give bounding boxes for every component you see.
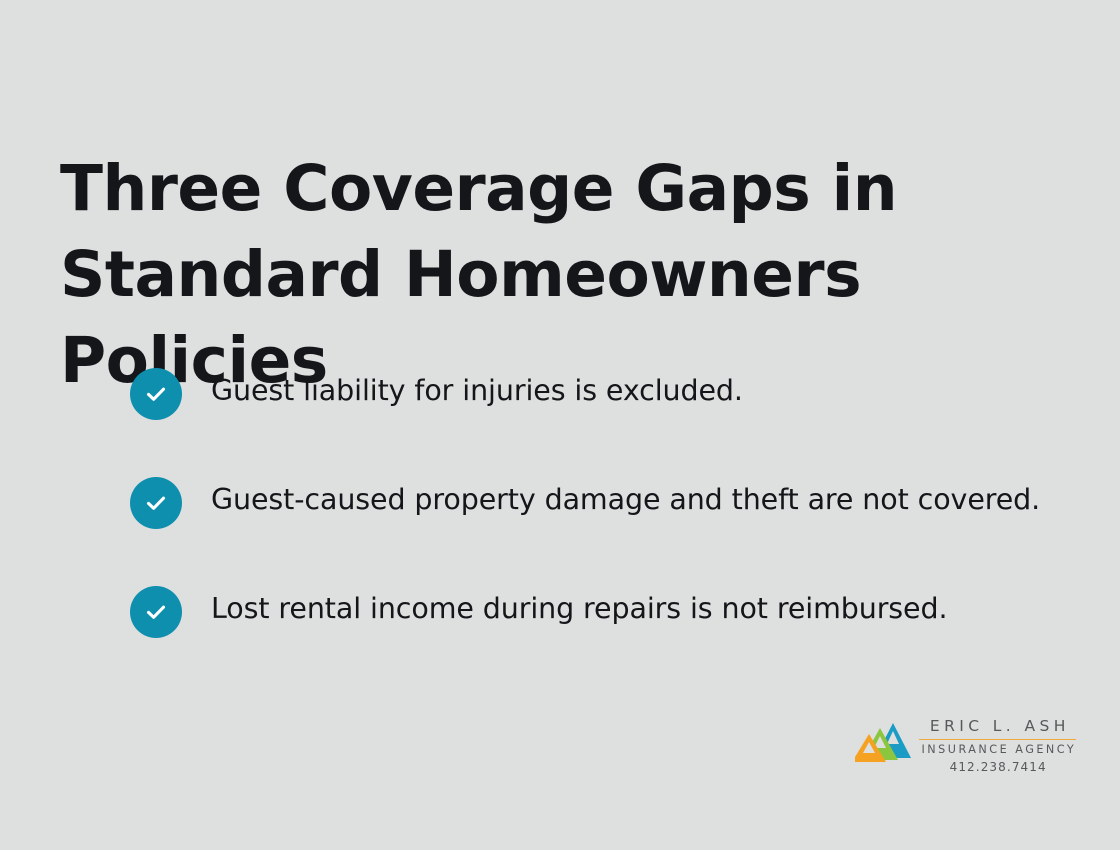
brand-divider [919, 739, 1076, 741]
check-icon [130, 368, 182, 420]
check-icon [130, 586, 182, 638]
brand-logo-text: ERIC L. ASH INSURANCE AGENCY 412.238.741… [919, 718, 1076, 777]
list-item-label: Lost rental income during repairs is not… [211, 583, 1050, 630]
bullet-list: Guest liability for injuries is excluded… [130, 365, 1050, 638]
list-item-label: Guest liability for injuries is excluded… [211, 365, 1050, 412]
slide-canvas: Three Coverage Gaps in Standard Homeowne… [0, 0, 1120, 850]
brand-phone: 412.238.7414 [919, 758, 1076, 777]
list-item: Lost rental income during repairs is not… [130, 583, 1050, 638]
check-icon [130, 477, 182, 529]
list-item: Guest liability for injuries is excluded… [130, 365, 1050, 420]
brand-logo: ERIC L. ASH INSURANCE AGENCY 412.238.741… [855, 718, 1055, 777]
list-item: Guest-caused property damage and theft a… [130, 474, 1050, 529]
brand-name: ERIC L. ASH [919, 718, 1076, 736]
mountain-logo-icon [855, 721, 911, 763]
list-item-label: Guest-caused property damage and theft a… [211, 474, 1050, 521]
brand-subtitle: INSURANCE AGENCY [919, 743, 1076, 758]
